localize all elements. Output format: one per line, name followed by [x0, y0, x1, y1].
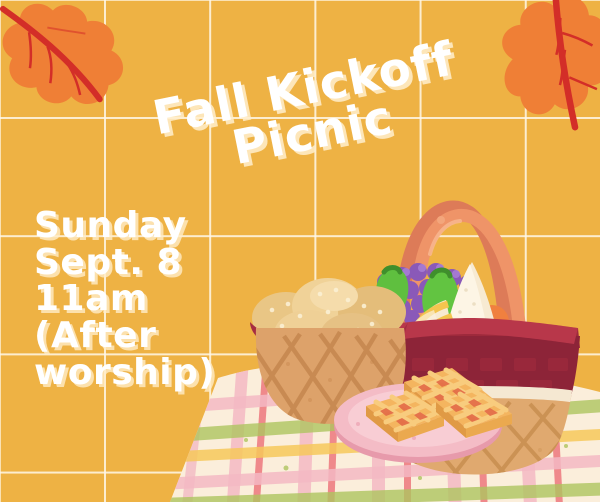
- detail-line-note-1: (After: [34, 318, 215, 355]
- basket-body: [362, 386, 588, 482]
- detail-line-note-2: worship): [34, 355, 215, 392]
- basket-contents: [358, 262, 521, 347]
- basket-handles: [401, 207, 520, 341]
- page-title: Fall Kickoff Picnic: [103, 27, 513, 195]
- pie-slice-back: [404, 368, 486, 420]
- tablecloth: [160, 352, 600, 502]
- bread-rolls: [252, 278, 406, 359]
- bread-basket-body: [246, 326, 436, 428]
- pie-plate: [334, 368, 512, 463]
- pie-slice-left: [366, 392, 444, 442]
- oak-leaf-icon-left: [0, 0, 144, 118]
- detail-line-day: Sunday: [34, 208, 215, 245]
- sandwich-and-napkin: [404, 262, 498, 340]
- poster-canvas: Fall Kickoff Picnic Sunday Sept. 8 11am …: [0, 0, 600, 502]
- pie-slice-right: [436, 390, 512, 438]
- orange-fruit: [358, 292, 521, 347]
- bread-basket: [246, 278, 436, 428]
- basket-rim: [362, 318, 580, 420]
- picnic-basket: [358, 207, 588, 482]
- oak-leaf-icon-right: [492, 0, 600, 150]
- detail-line-time: 11am: [34, 281, 215, 318]
- green-produce: [376, 268, 458, 328]
- detail-line-date: Sept. 8: [34, 245, 215, 282]
- grapes: [377, 263, 477, 328]
- event-details: Sunday Sept. 8 11am (After worship): [34, 208, 215, 392]
